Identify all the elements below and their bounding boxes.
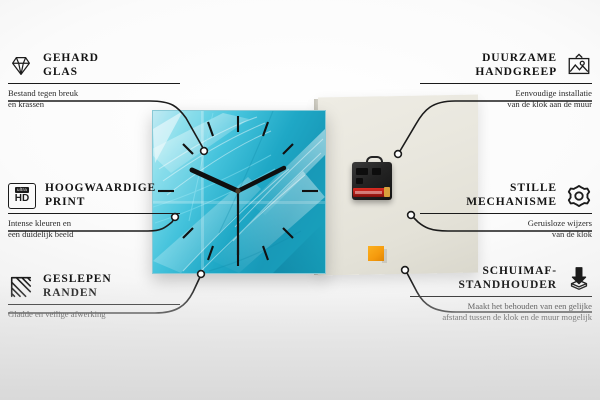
feature-header: GESLEPEN RANDEN [8, 273, 180, 300]
feature-gehard-glas[interactable]: GEHARD GLAS Bestand tegen breuk en krass… [8, 52, 180, 109]
feature-title: GESLEPEN RANDEN [43, 273, 112, 300]
feature-divider [420, 83, 592, 84]
feature-title: DUURZAME HANDGREEP [475, 52, 557, 79]
feature-title: HOOGWAARDIGE PRINT [45, 182, 156, 209]
glass-reflection-vertical [201, 111, 204, 273]
feature-divider [8, 304, 180, 305]
movement-detail [356, 168, 368, 175]
feature-header: DUURZAME HANDGREEP [420, 52, 592, 79]
movement-detail [372, 168, 381, 175]
feature-divider [8, 83, 180, 84]
feature-geslepen-randen[interactable]: GESLEPEN RANDEN Gladde en veilige afwerk… [8, 273, 180, 320]
arrow-down-pad-icon [566, 266, 592, 292]
feature-hoogwaardige-print[interactable]: ultra HD HOOGWAARDIGE PRINT Intense kleu… [8, 182, 180, 239]
feature-title: STILLE MECHANISME [466, 182, 557, 209]
diamond-icon [8, 53, 34, 79]
feature-header: STILLE MECHANISME [420, 182, 592, 209]
feature-title: SCHUIMAF- STANDHOUDER [458, 265, 557, 292]
feature-header: GEHARD GLAS [8, 52, 180, 79]
feature-duurzame-handgreep[interactable]: DUURZAME HANDGREEP Eenvoudige installati… [420, 52, 592, 109]
gear-icon [566, 183, 592, 209]
feature-header: SCHUIMAF- STANDHOUDER [410, 265, 592, 292]
wall-picture-frame-icon [566, 53, 592, 79]
feature-divider [410, 296, 592, 297]
battery-label-band [355, 191, 382, 194]
foam-spacer-pad [368, 246, 384, 261]
feature-divider [8, 213, 180, 214]
feature-header: ultra HD HOOGWAARDIGE PRINT [8, 182, 180, 209]
beveled-edges-icon [8, 274, 34, 300]
feature-stille-mechanisme[interactable]: STILLE MECHANISME Geruisloze wijzers van… [420, 182, 592, 239]
movement-detail [356, 178, 363, 184]
feature-divider [420, 213, 592, 214]
feature-title: GEHARD GLAS [43, 52, 99, 79]
infographic-canvas: GEHARD GLAS Bestand tegen breuk en krass… [0, 0, 600, 400]
feature-schuimaf-standhouder[interactable]: SCHUIMAF- STANDHOUDER Maakt het behouden… [410, 265, 592, 322]
battery-plus-terminal [384, 187, 390, 197]
ultra-hd-badge-icon: ultra HD [8, 183, 36, 209]
